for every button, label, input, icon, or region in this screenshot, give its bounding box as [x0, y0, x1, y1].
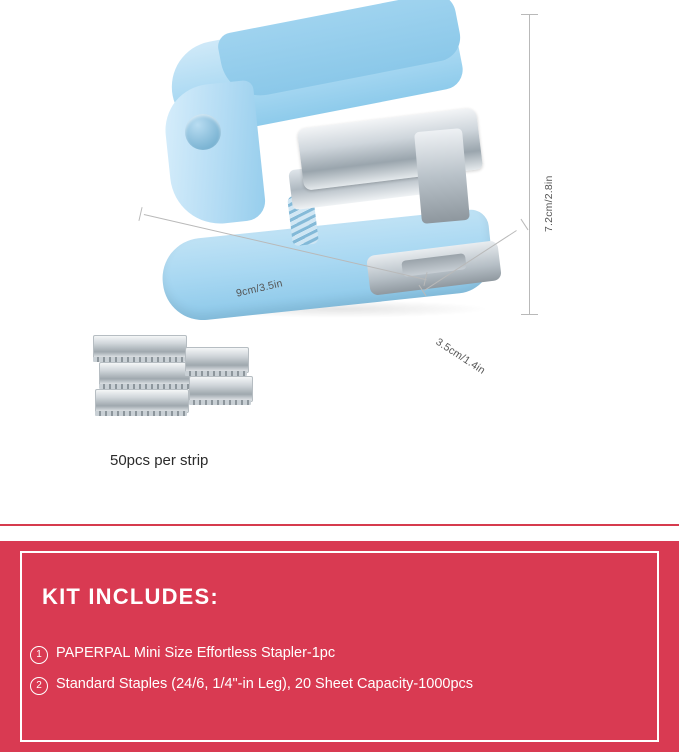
- list-item-number: 2: [30, 677, 48, 695]
- section-divider: [0, 524, 679, 526]
- depth-dimension-label: 3.5cm/1.4in: [433, 336, 487, 377]
- list-item-number: 1: [30, 646, 48, 664]
- staple-strip: [189, 376, 253, 402]
- stapler-body: [161, 80, 267, 229]
- staple-strip: [93, 335, 187, 359]
- stapler-illustration: [150, 10, 510, 340]
- staple-strip: [99, 362, 193, 386]
- height-dimension-label: 7.2cm/2.8in: [543, 176, 555, 232]
- height-dimension-tick-top: [521, 14, 538, 15]
- list-item: 2 Standard Staples (24/6, 1/4"-in Leg), …: [30, 675, 650, 695]
- staple-strip-teeth: [189, 400, 251, 405]
- width-dimension-tick-left: [138, 207, 142, 221]
- list-item: 1 PAPERPAL Mini Size Effortless Stapler-…: [30, 644, 650, 664]
- stapler-metal-clip: [414, 128, 470, 224]
- staples-illustration: [85, 325, 265, 435]
- kit-includes-panel: KIT INCLUDES: 1 PAPERPAL Mini Size Effor…: [0, 541, 679, 752]
- kit-includes-title: KIT INCLUDES:: [42, 584, 219, 610]
- staples-caption: 50pcs per strip: [110, 452, 208, 469]
- staple-strip: [95, 389, 189, 413]
- height-dimension-line: [529, 14, 530, 314]
- product-infographic: 7.2cm/2.8in 9cm/3.5in 3.5cm/1.4in 50pcs …: [0, 0, 679, 752]
- kit-includes-list: 1 PAPERPAL Mini Size Effortless Stapler-…: [30, 644, 650, 706]
- list-item-label: Standard Staples (24/6, 1/4"-in Leg), 20…: [56, 675, 473, 694]
- height-dimension-tick-bottom: [521, 314, 538, 315]
- depth-dimension-tick-right: [521, 219, 529, 230]
- staple-strip-teeth: [95, 411, 187, 416]
- stapler-side-button: [185, 114, 221, 150]
- list-item-label: PAPERPAL Mini Size Effortless Stapler-1p…: [56, 644, 335, 663]
- staple-strip: [185, 347, 249, 373]
- product-photo-area: 7.2cm/2.8in 9cm/3.5in 3.5cm/1.4in 50pcs …: [0, 0, 679, 520]
